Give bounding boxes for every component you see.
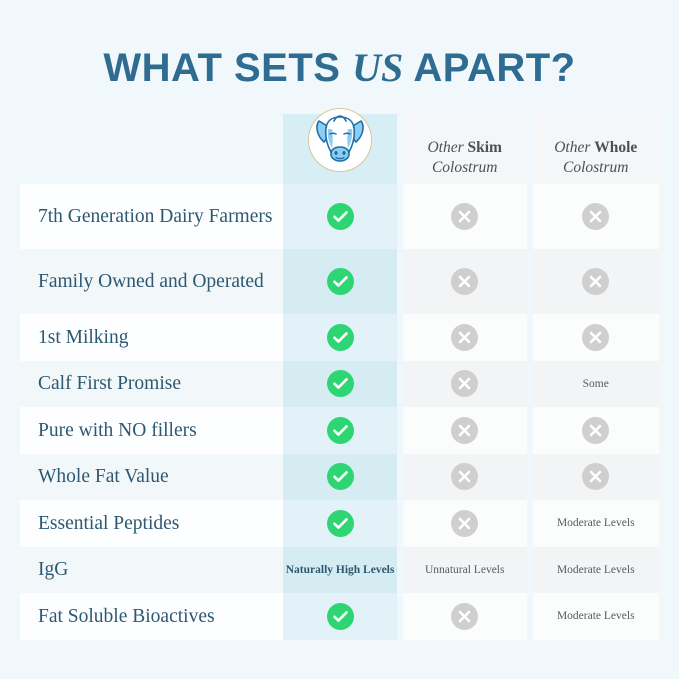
row-feature-label: 1st Milking	[20, 314, 283, 361]
x-circle-icon	[451, 417, 478, 444]
cow-head-logo	[308, 108, 372, 172]
cell-skim	[403, 407, 527, 454]
cell-whole: Moderate Levels	[533, 593, 660, 640]
cell-us	[283, 500, 397, 547]
cell-skim	[403, 454, 527, 501]
check-circle-icon	[327, 370, 354, 397]
x-circle-icon	[582, 324, 609, 351]
cell-value-text: Moderate Levels	[557, 609, 635, 623]
check-circle-icon	[327, 268, 354, 295]
row-feature-label: Whole Fat Value	[20, 454, 283, 501]
cell-whole	[533, 184, 660, 249]
table-row: Family Owned and Operated	[20, 249, 659, 314]
comparison-infographic: WHAT SETS US APART?	[0, 0, 679, 679]
x-circle-icon	[451, 510, 478, 537]
row-feature-label: Fat Soluble Bioactives	[20, 593, 283, 640]
row-feature-label: 7th Generation Dairy Farmers	[20, 184, 283, 249]
table-row: Whole Fat Value	[20, 454, 659, 501]
header-cell-other-whole: Other Whole Colostrum	[533, 114, 660, 184]
table-row: 1st Milking	[20, 314, 659, 361]
check-circle-icon	[327, 603, 354, 630]
table-row: 7th Generation Dairy Farmers	[20, 184, 659, 249]
cell-skim	[403, 593, 527, 640]
x-circle-icon	[582, 417, 609, 444]
header-whole-italic: Other	[554, 139, 594, 156]
header-cell-other-skim: Other Skim Colostrum	[403, 114, 527, 184]
x-circle-icon	[582, 268, 609, 295]
row-feature-label: Family Owned and Operated	[20, 249, 283, 314]
header-skim-italic: Other	[427, 139, 467, 156]
cell-whole: Some	[533, 361, 660, 408]
row-feature-label: IgG	[20, 547, 283, 594]
cell-whole: Moderate Levels	[533, 547, 660, 594]
check-circle-icon	[327, 463, 354, 490]
header-whole-line2: Colostrum	[563, 159, 628, 176]
header-skim-bold: Skim	[468, 139, 502, 156]
cell-whole: Moderate Levels	[533, 500, 660, 547]
cell-us	[283, 314, 397, 361]
cell-value-text: Unnatural Levels	[425, 563, 505, 577]
x-circle-icon	[582, 203, 609, 230]
x-circle-icon	[451, 370, 478, 397]
cell-value-text: Naturally High Levels	[286, 563, 395, 577]
cell-value-text: Some	[583, 377, 609, 391]
cell-us	[283, 184, 397, 249]
row-feature-label: Pure with NO fillers	[20, 407, 283, 454]
table-body: 7th Generation Dairy FarmersFamily Owned…	[20, 184, 659, 640]
cell-us	[283, 249, 397, 314]
table-row: Calf First PromiseSome	[20, 361, 659, 408]
cell-skim: Unnatural Levels	[403, 547, 527, 594]
cell-us	[283, 361, 397, 408]
page-title-prefix: WHAT SETS	[103, 46, 352, 90]
cell-whole	[533, 314, 660, 361]
x-circle-icon	[451, 603, 478, 630]
x-circle-icon	[451, 268, 478, 295]
cell-skim	[403, 249, 527, 314]
table-row: Pure with NO fillers	[20, 407, 659, 454]
cell-us	[283, 593, 397, 640]
table-header-row: Other Skim Colostrum Other Whole Colostr…	[20, 114, 659, 184]
cell-value-text: Moderate Levels	[557, 516, 635, 530]
x-circle-icon	[451, 324, 478, 351]
cell-us: Naturally High Levels	[283, 547, 397, 594]
header-cell-feature	[20, 114, 283, 184]
check-circle-icon	[327, 324, 354, 351]
cell-whole	[533, 407, 660, 454]
x-circle-icon	[451, 463, 478, 490]
cell-skim	[403, 361, 527, 408]
x-circle-icon	[582, 463, 609, 490]
header-cell-us	[283, 114, 397, 184]
header-skim-line2: Colostrum	[432, 159, 497, 176]
table-row: IgGNaturally High LevelsUnnatural Levels…	[20, 547, 659, 594]
cell-skim	[403, 314, 527, 361]
page-title-suffix: APART?	[403, 46, 575, 90]
cow-head-icon	[315, 114, 365, 166]
page-title: WHAT SETS US APART?	[0, 44, 679, 91]
cell-value-text: Moderate Levels	[557, 563, 635, 577]
check-circle-icon	[327, 510, 354, 537]
comparison-table: Other Skim Colostrum Other Whole Colostr…	[20, 114, 659, 640]
table-row: Essential PeptidesModerate Levels	[20, 500, 659, 547]
page-title-emphasis: US	[352, 45, 403, 90]
table-row: Fat Soluble BioactivesModerate Levels	[20, 593, 659, 640]
row-feature-label: Essential Peptides	[20, 500, 283, 547]
check-circle-icon	[327, 417, 354, 444]
cell-skim	[403, 184, 527, 249]
cell-whole	[533, 249, 660, 314]
row-feature-label: Calf First Promise	[20, 361, 283, 408]
cell-whole	[533, 454, 660, 501]
cell-skim	[403, 500, 527, 547]
check-circle-icon	[327, 203, 354, 230]
header-whole-bold: Whole	[594, 139, 637, 156]
cell-us	[283, 454, 397, 501]
x-circle-icon	[451, 203, 478, 230]
cell-us	[283, 407, 397, 454]
